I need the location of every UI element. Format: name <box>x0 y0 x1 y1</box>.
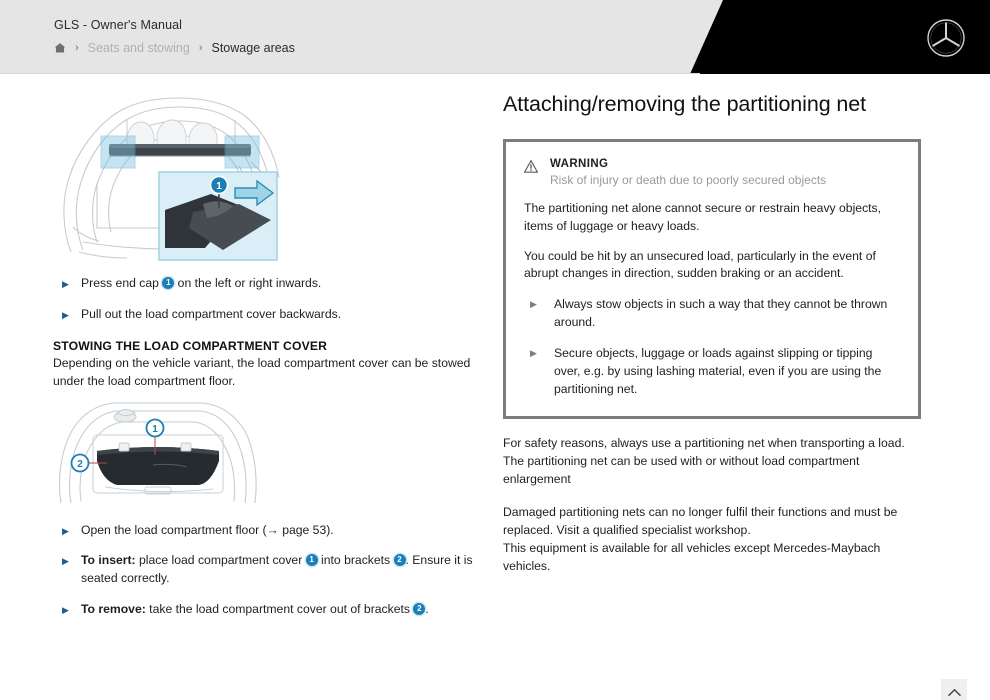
warning-triangle-icon <box>524 158 550 178</box>
warning-label: WARNING <box>550 158 900 170</box>
callout-badge-2: 2 <box>413 603 425 615</box>
bullet-text: Press end cap 1 on the left or right inw… <box>81 275 473 293</box>
bullet-marker-icon: ▶ <box>53 306 81 324</box>
breadcrumb-item-stowage-areas[interactable]: Stowage areas <box>212 41 295 55</box>
load-compartment-cover-end-cap-illustration: 1 <box>53 92 283 262</box>
svg-text:1: 1 <box>216 181 222 192</box>
bullet-marker-icon: ▶ <box>53 601 81 619</box>
breadcrumb: › Seats and stowing › Stowage areas <box>54 41 295 55</box>
bullet-text: Open the load compartment floor (→ page … <box>81 522 473 540</box>
breadcrumb-separator-2: › <box>199 43 203 54</box>
load-compartment-floor-stowage-illustration: 1 2 <box>53 399 263 509</box>
bullet-marker-icon: ▶ <box>53 275 81 293</box>
svg-text:2: 2 <box>77 459 83 470</box>
home-icon[interactable] <box>54 42 66 54</box>
body-paragraph-2: Damaged partitioning nets can no longer … <box>503 504 921 575</box>
bullet-marker-icon: ▶ <box>53 522 81 540</box>
warning-subtitle: Risk of injury or death due to poorly se… <box>550 172 900 188</box>
section-heading-stowing-cover: STOWING THE LOAD COMPARTMENT COVER <box>53 339 473 353</box>
bullet-text: To remove: take the load compartment cov… <box>81 601 473 619</box>
bullet-lead-in: To remove: <box>81 602 146 616</box>
page-title: Attaching/removing the partitioning net <box>503 92 921 117</box>
bullet-to-insert: ▶ To insert: place load compartment cove… <box>53 552 473 587</box>
section-body-text: Depending on the vehicle variant, the lo… <box>53 355 473 390</box>
bullet-pull-out-cover: ▶ Pull out the load compartment cover ba… <box>53 306 473 324</box>
bullet-marker-icon: ▶ <box>524 296 554 331</box>
bullet-text: To insert: place load compartment cover … <box>81 552 473 587</box>
warning-bullet-text: Secure objects, luggage or loads against… <box>554 345 900 398</box>
bullet-text: Pull out the load compartment cover back… <box>81 306 473 324</box>
breadcrumb-separator-1: › <box>75 43 79 54</box>
bullet-marker-icon: ▶ <box>524 345 554 398</box>
callout-badge-1: 1 <box>306 554 318 566</box>
body-paragraph-1: For safety reasons, always use a partiti… <box>503 435 921 488</box>
app-header: GLS - Owner's Manual › Seats and stowing… <box>0 0 990 74</box>
warning-bullet-text: Always stow objects in such a way that t… <box>554 296 900 331</box>
bullet-lead-in: To insert: <box>81 553 136 567</box>
left-column: 1 ▶ Press end cap 1 on the left or right… <box>53 92 473 619</box>
warning-bullet-item: ▶ Secure objects, luggage or loads again… <box>524 345 900 398</box>
mercedes-benz-star-logo <box>926 18 966 58</box>
warning-titles: WARNING Risk of injury or death due to p… <box>550 158 900 188</box>
bullet-marker-icon: ▶ <box>53 552 81 587</box>
warning-paragraph-2: You could be hit by an unsecured load, p… <box>524 248 900 283</box>
scroll-to-top-button[interactable] <box>941 679 967 700</box>
right-column: Attaching/removing the partitioning net … <box>503 92 921 575</box>
chevron-up-icon <box>948 688 961 697</box>
callout-badge-2: 2 <box>394 554 406 566</box>
page-content: 1 ▶ Press end cap 1 on the left or right… <box>0 74 990 700</box>
bullet-open-floor: ▶ Open the load compartment floor (→ pag… <box>53 522 473 540</box>
warning-paragraph-1: The partitioning net alone cannot secure… <box>524 200 900 235</box>
callout-badge-1: 1 <box>162 277 174 289</box>
warning-bullet-item: ▶ Always stow objects in such a way that… <box>524 296 900 331</box>
svg-text:1: 1 <box>152 424 158 435</box>
warning-box: WARNING Risk of injury or death due to p… <box>503 139 921 419</box>
bullet-press-end-cap: ▶ Press end cap 1 on the left or right i… <box>53 275 473 293</box>
bullet-to-remove: ▶ To remove: take the load compartment c… <box>53 601 473 619</box>
warning-header: WARNING Risk of injury or death due to p… <box>524 158 900 188</box>
manual-title: GLS - Owner's Manual <box>54 18 295 32</box>
breadcrumb-item-seats-and-stowing[interactable]: Seats and stowing <box>88 41 190 55</box>
warning-bullet-list: ▶ Always stow objects in such a way that… <box>524 296 900 398</box>
